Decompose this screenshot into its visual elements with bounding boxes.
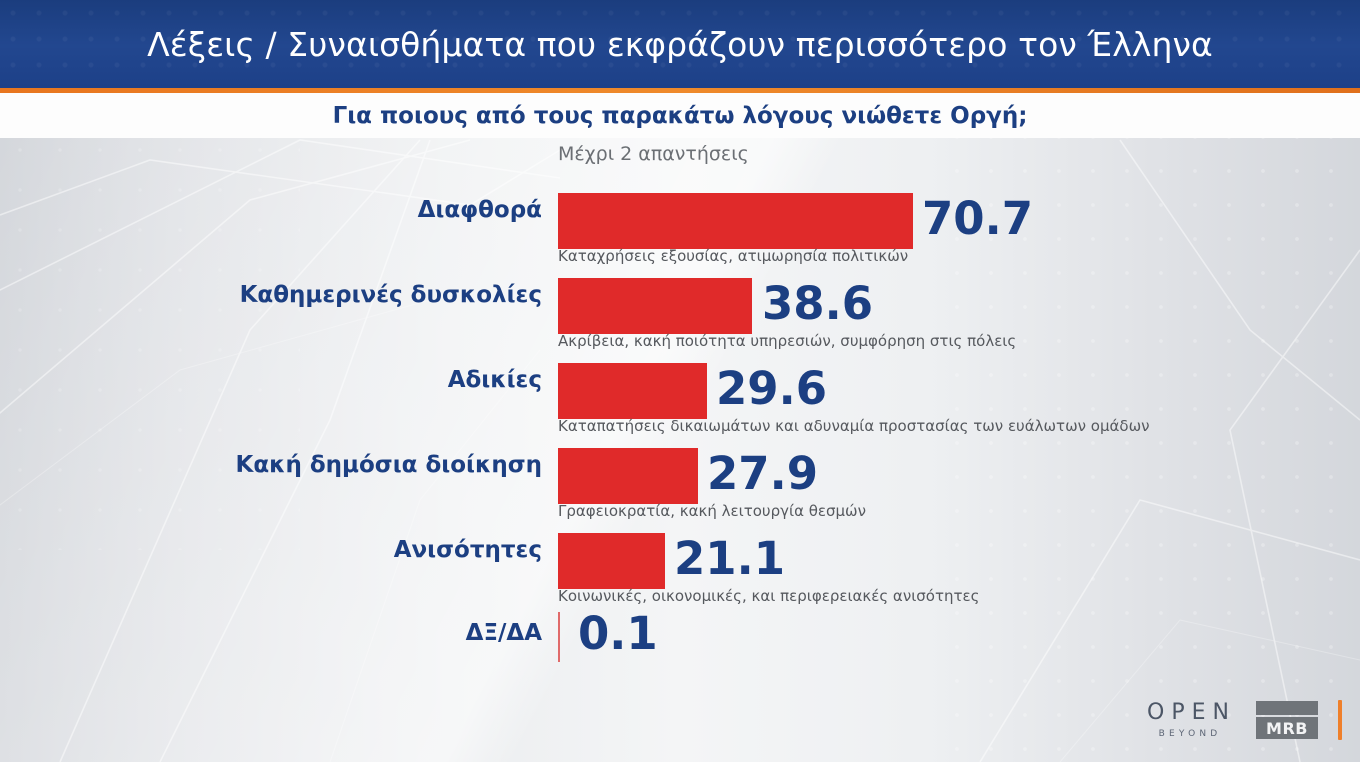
chart-row: Κακή δημόσια διοίκηση 27.9 Γραφειοκρατία… bbox=[0, 440, 1360, 525]
subtitle-band: Για ποιους από τους παρακάτω λόγους νιώθ… bbox=[0, 93, 1360, 138]
bar-value: 29.6 bbox=[716, 359, 827, 419]
open-logo-text: OPEN bbox=[1140, 702, 1236, 724]
mrb-logo-block: MRB bbox=[1256, 717, 1318, 739]
bar-chart: Διαφθορά 70.7 Καταχρήσεις εξουσίας, ατιμ… bbox=[0, 185, 1360, 680]
row-sublabel: Καταχρήσεις εξουσίας, ατιμωρησία πολιτικ… bbox=[558, 247, 908, 265]
chart-row: Αδικίες 29.6 Καταπατήσεις δικαιωμάτων κα… bbox=[0, 355, 1360, 440]
bar bbox=[558, 193, 913, 249]
broadcast-chart-slide: Λέξεις / Συναισθήματα που εκφράζουν περι… bbox=[0, 0, 1360, 762]
answers-note: Μέχρι 2 απαντήσεις bbox=[558, 143, 749, 165]
mrb-logo-bar bbox=[1256, 701, 1318, 715]
open-beyond-logo: OPEN BEYOND bbox=[1140, 702, 1236, 739]
chart-row: Καθημερινές δυσκολίες 38.6 Ακρίβεια, κακ… bbox=[0, 270, 1360, 355]
question-subtitle: Για ποιους από τους παρακάτω λόγους νιώθ… bbox=[333, 103, 1028, 129]
chart-row: Ανισότητες 21.1 Κοινωνικές, οικονομικές,… bbox=[0, 525, 1360, 610]
bar-value: 21.1 bbox=[674, 529, 785, 589]
page-title: Λέξεις / Συναισθήματα που εκφράζουν περι… bbox=[147, 25, 1213, 64]
mrb-logo: MRB bbox=[1256, 701, 1318, 739]
row-sublabel: Καταπατήσεις δικαιωμάτων και αδυναμία πρ… bbox=[558, 417, 1150, 435]
footer-logos: OPEN BEYOND MRB bbox=[1140, 692, 1342, 748]
bar-tick bbox=[558, 612, 560, 662]
bar-value: 27.9 bbox=[707, 444, 818, 504]
row-sublabel: Ακρίβεια, κακή ποιότητα υπηρεσιών, συμφό… bbox=[558, 332, 1016, 350]
header-bar: Λέξεις / Συναισθήματα που εκφράζουν περι… bbox=[0, 0, 1360, 88]
row-sublabel: Γραφειοκρατία, κακή λειτουργία θεσμών bbox=[558, 502, 866, 520]
row-label: ΔΞ/ΔΑ bbox=[122, 620, 542, 646]
row-label: Διαφθορά bbox=[122, 197, 542, 223]
bar bbox=[558, 448, 698, 504]
row-label: Καθημερινές δυσκολίες bbox=[122, 282, 542, 308]
bar-value: 70.7 bbox=[922, 189, 1033, 249]
mrb-logo-text: MRB bbox=[1266, 719, 1308, 738]
chart-row: Διαφθορά 70.7 Καταχρήσεις εξουσίας, ατιμ… bbox=[0, 185, 1360, 270]
row-label: Αδικίες bbox=[122, 367, 542, 393]
bar bbox=[558, 278, 752, 334]
open-logo-tagline: BEYOND bbox=[1155, 730, 1222, 739]
orange-accent-bar bbox=[1338, 700, 1342, 740]
bar-value: 0.1 bbox=[578, 604, 658, 664]
chart-row-no-answer: ΔΞ/ΔΑ 0.1 bbox=[0, 610, 1360, 680]
bar bbox=[558, 363, 707, 419]
row-label: Κακή δημόσια διοίκηση bbox=[122, 452, 542, 478]
row-label: Ανισότητες bbox=[122, 537, 542, 563]
bar bbox=[558, 533, 665, 589]
row-sublabel: Κοινωνικές, οικονομικές, και περιφερειακ… bbox=[558, 587, 979, 605]
bar-value: 38.6 bbox=[762, 274, 873, 334]
